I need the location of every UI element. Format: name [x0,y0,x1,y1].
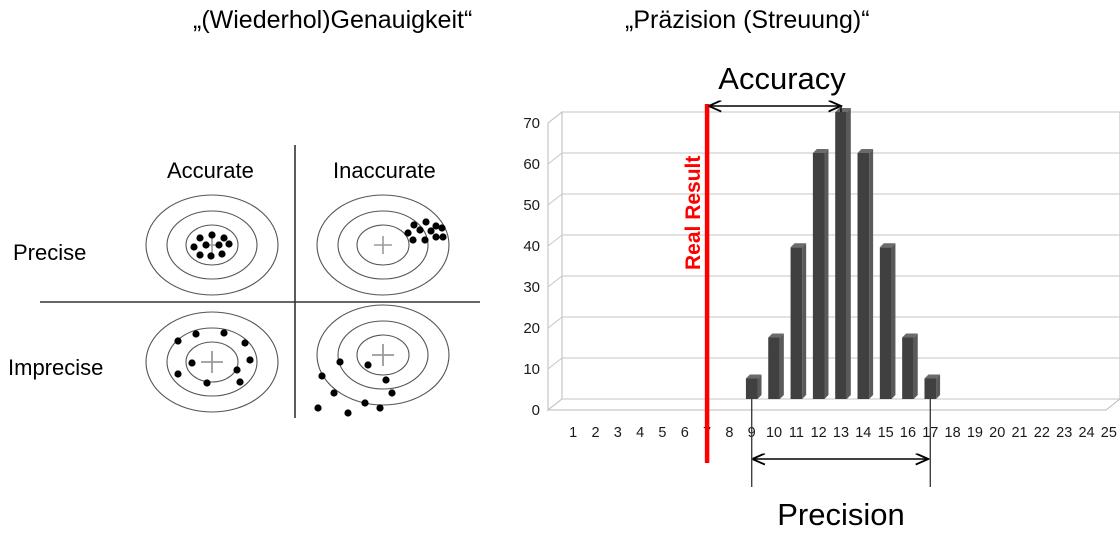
chart-bar [880,247,892,399]
x-tick-label: 14 [855,425,871,441]
chart-bar [924,379,936,400]
x-tick-label: 5 [658,425,666,441]
x-tick-label: 2 [591,425,599,441]
x-tick-label: 10 [766,425,782,441]
y-tick-label: 0 [532,402,540,419]
heading-left: „(Wiederhol)Genauigkeit“ [193,6,472,35]
accuracy-precision-quadrant: Accurate Inaccurate Precise Imprecise [0,140,480,450]
real-result-label: Real Result [682,156,705,270]
x-tick-label: 8 [725,425,733,441]
chart-y-axis-labels: 010203040506070 [523,115,540,419]
quadrant-svg [0,140,480,450]
x-tick-label: 20 [989,425,1005,441]
target-inaccurate-precise [317,195,449,295]
plot-3d-frame [548,112,1120,410]
x-tick-label: 22 [1034,425,1050,441]
target-accurate-imprecise [146,312,278,412]
target-accurate-precise [146,195,278,295]
chart-bar [768,338,780,400]
quadrant-col-label-accurate: Accurate [167,158,254,184]
quadrant-col-label-inaccurate: Inaccurate [333,158,436,184]
y-tick-label: 40 [523,238,540,255]
precision-label: Precision [777,497,905,532]
x-tick-label: 21 [1011,425,1027,441]
y-tick-label: 20 [523,320,540,337]
x-tick-label: 4 [636,425,644,441]
y-tick-label: 70 [523,115,540,132]
center-plus-icon [201,351,223,373]
x-tick-label: 15 [878,425,894,441]
accuracy-annotation: Accuracy [710,61,846,112]
quadrant-row-label-precise: Precise [13,240,86,266]
target-dots [404,218,446,243]
chart-bar [791,247,803,399]
x-tick-label: 6 [681,425,689,441]
x-tick-label: 25 [1101,425,1117,441]
chart-bar [813,153,825,399]
accuracy-label: Accuracy [718,61,846,96]
x-tick-label: 24 [1078,425,1094,441]
x-tick-label: 1 [569,425,577,441]
quadrant-row-label-imprecise: Imprecise [8,355,103,381]
center-plus-icon [374,236,392,254]
center-plus-icon [372,344,394,366]
x-tick-label: 12 [811,425,827,441]
x-tick-label: 19 [967,425,983,441]
target-dots [314,358,395,416]
chart-bar [858,153,870,399]
chart-bar [746,379,758,400]
slide: „(Wiederhol)Genauigkeit“ „Präzision (Str… [0,0,1120,533]
chart-bar [835,112,847,399]
precision-histogram-chart: 010203040506070 123456789101112131415161… [500,55,1120,533]
y-tick-label: 10 [523,361,540,378]
y-tick-label: 30 [523,279,540,296]
x-tick-label: 23 [1056,425,1072,441]
x-tick-label: 3 [614,425,622,441]
y-tick-label: 50 [523,197,540,214]
chart-x-axis-labels: 1234567891011121314151617181920212223242… [569,425,1117,441]
chart-bar [902,338,914,400]
x-tick-label: 13 [833,425,849,441]
x-tick-label: 16 [900,425,916,441]
x-tick-label: 11 [789,425,804,441]
target-inaccurate-imprecise [314,305,449,417]
chart-svg: 010203040506070 123456789101112131415161… [500,55,1120,533]
y-tick-label: 60 [523,156,540,173]
heading-right: „Präzision (Streuung)“ [625,6,870,35]
x-tick-label: 18 [945,425,961,441]
precision-annotation: Precision [752,399,931,532]
